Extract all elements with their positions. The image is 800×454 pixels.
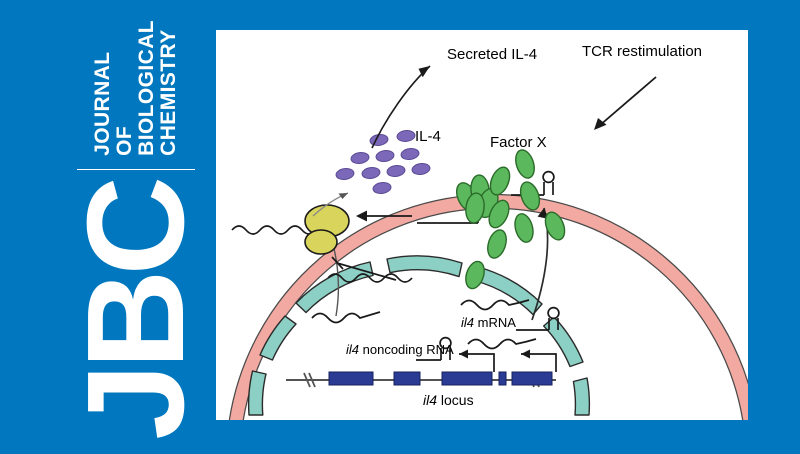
- exon-box: [442, 372, 492, 385]
- label-il4-noncoding-rna: il4 noncoding RNA: [346, 343, 454, 356]
- exon-box: [512, 372, 552, 385]
- factor-x-protein: [463, 259, 488, 291]
- jbc-wordmark-line-2: BIOLOGICAL: [136, 20, 158, 156]
- exon-box: [499, 372, 506, 385]
- jbc-monogram: JBC: [67, 182, 205, 440]
- il4-protein: [361, 166, 380, 179]
- il4-protein: [372, 181, 391, 194]
- jbc-wordmark-line-1: JOURNAL OF: [92, 20, 136, 156]
- label-tcr-restimulation: TCR restimulation: [582, 44, 702, 59]
- factor-x-protein: [512, 212, 536, 244]
- label-il4-noncoding-gene: il4: [346, 342, 359, 357]
- exon-box: [394, 372, 420, 385]
- factor-x-protein: [484, 228, 509, 261]
- nuclear-mrna-wave-2: [468, 339, 536, 349]
- il4-protein: [375, 149, 394, 162]
- label-il4-locus-rest: locus: [437, 392, 474, 408]
- label-secreted-il4: Secreted IL-4: [447, 47, 537, 62]
- cell-diagram: [216, 30, 748, 420]
- il4-protein: [350, 151, 369, 164]
- label-il4-noncoding-rest: noncoding RNA: [359, 342, 454, 357]
- il4-protein: [411, 162, 430, 175]
- il4-protein: [335, 167, 354, 180]
- jbc-logo: JBC JOURNAL OF BIOLOGICAL CHEMISTRY: [61, 20, 211, 440]
- label-il4-locus-gene: il4: [423, 392, 437, 408]
- il4-protein: [386, 164, 405, 177]
- label-il4-locus: il4 locus: [423, 393, 474, 407]
- exon-box: [329, 372, 373, 385]
- nuclear-ncrna-wave: [312, 312, 380, 323]
- logo-divider: [77, 169, 195, 170]
- label-il4-mrna: il4 mRNA: [461, 316, 516, 329]
- il4-protein: [400, 147, 419, 160]
- label-factor-x: Factor X: [490, 135, 547, 150]
- jbc-wordmark-line-3: CHEMISTRY: [158, 20, 180, 156]
- figure-panel: Secreted IL-4 TCR restimulation IL-4 Fac…: [216, 30, 748, 420]
- tcr-restimulation-arrow: [594, 77, 656, 130]
- label-il4: IL-4: [415, 129, 441, 144]
- label-il4-mrna-gene: il4: [461, 315, 474, 330]
- jbc-logo-rail: JBC JOURNAL OF BIOLOGICAL CHEMISTRY: [0, 0, 216, 454]
- jbc-wordmark: JOURNAL OF BIOLOGICAL CHEMISTRY: [92, 20, 179, 156]
- il4-protein: [396, 130, 415, 143]
- label-il4-mrna-rest: mRNA: [474, 315, 516, 330]
- cover-image: JBC JOURNAL OF BIOLOGICAL CHEMISTRY: [0, 0, 800, 454]
- factor-x-protein: [512, 148, 537, 181]
